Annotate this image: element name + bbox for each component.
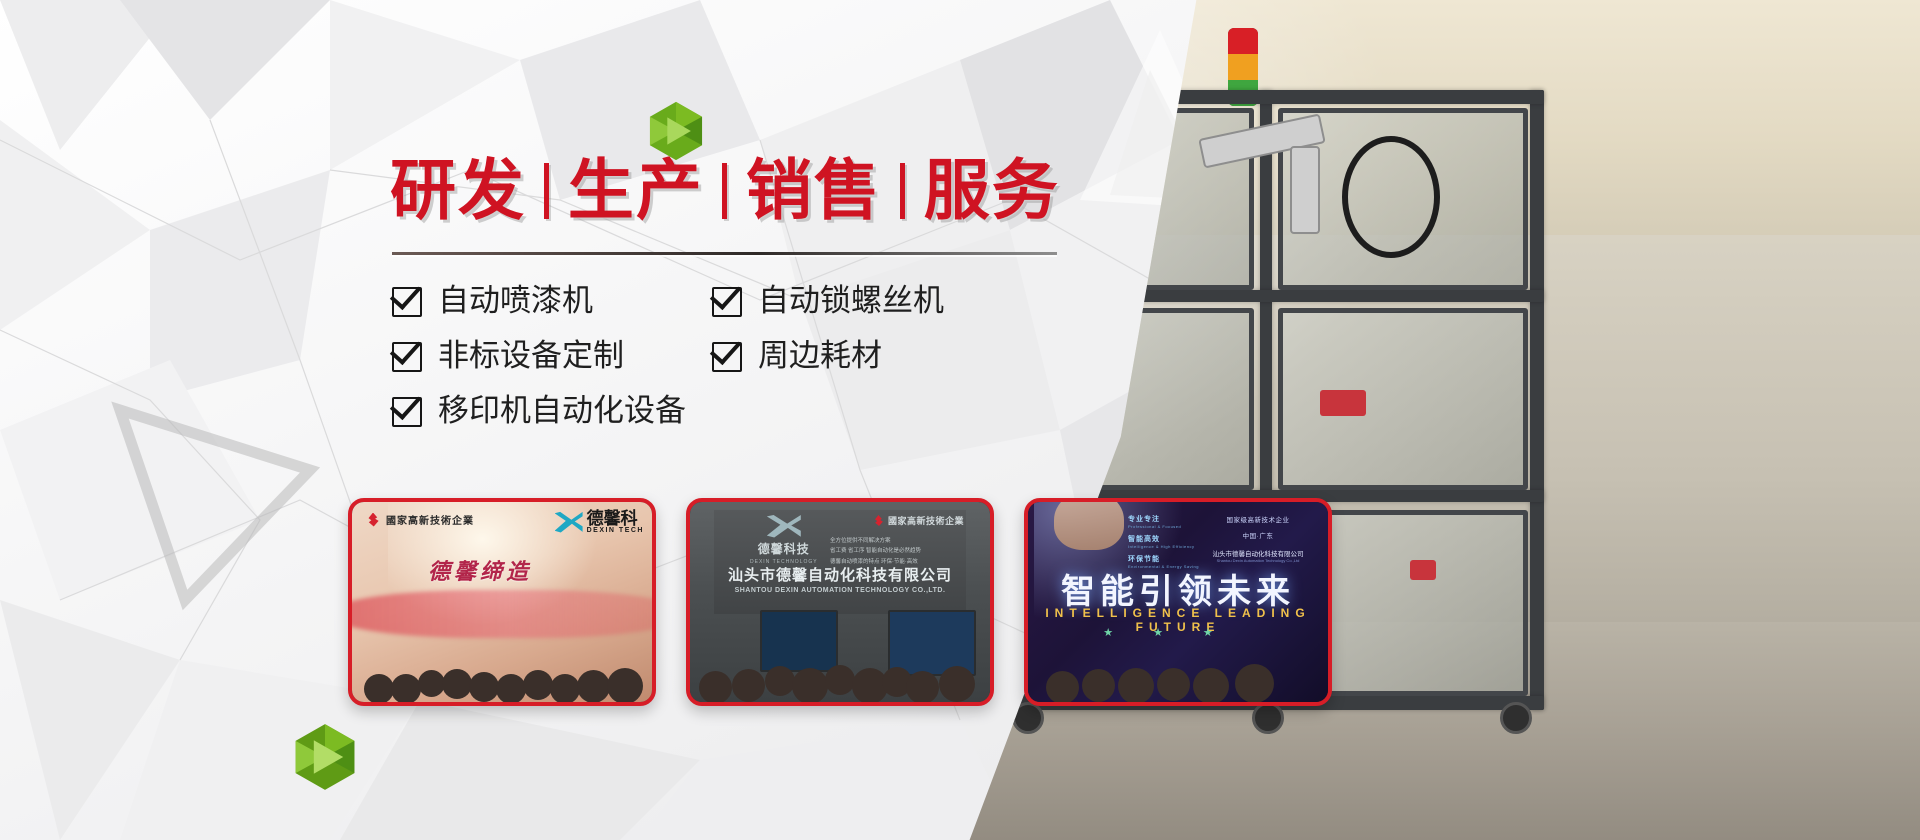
people-group [1028, 590, 1328, 702]
checkbox-checked-icon [712, 287, 742, 317]
feature-label: 周边耗材 [758, 341, 882, 372]
feature-item: 自动锁螺丝机 [712, 286, 1012, 317]
headline-word-4: 服务 [924, 158, 1060, 224]
thumbnail-team-photo-exhibition-booth[interactable]: 國家高新技術企業 德馨科 DEXIN TECH 德馨缔造 [348, 498, 656, 706]
dexin-logo-en: DEXIN TECH [587, 527, 644, 534]
checkbox-checked-icon [392, 397, 422, 427]
headline-word-3: 销售 [746, 158, 882, 224]
dexin-logo: 德馨科技 DEXIN TECHNOLOGY [750, 514, 818, 565]
hi-tech-badge-label: 國家高新技術企業 [888, 514, 964, 527]
wall-bullet: 全方位提供不同解决方案 [830, 536, 980, 546]
headline-separator [722, 163, 727, 219]
checkbox-checked-icon [392, 342, 422, 372]
feature-label: 非标设备定制 [438, 341, 624, 372]
banner-content: 研发 生产 销售 服务 自动喷漆机 自动锁螺丝机 非标设备定制 [0, 0, 1130, 840]
headline: 研发 生产 销售 服务 [390, 158, 1070, 224]
feature-label: 移印机自动化设备 [438, 396, 686, 427]
dexin-x-mark-icon [767, 514, 801, 538]
feature-label: 自动锁螺丝机 [758, 286, 944, 317]
flame-icon [873, 515, 884, 526]
headline-divider [392, 252, 1057, 255]
thumbnail-team-photo-company-wall[interactable]: 德馨科技 DEXIN TECHNOLOGY 國家高新技術企業 全方位提供不同解决… [686, 498, 994, 706]
feature-item: 自动喷漆机 [392, 286, 692, 317]
dexin-logo: 德馨科 DEXIN TECH [555, 510, 644, 534]
right-company-en: Shantou Dexin Automation Technology Co.,… [1198, 558, 1318, 563]
right-region-label: 中国·广东 [1198, 530, 1318, 540]
hi-tech-badge: 國家高新技術企業 [873, 514, 964, 527]
dexin-x-mark-icon [555, 511, 583, 533]
feature-list: 自动喷漆机 自动锁螺丝机 非标设备定制 周边耗材 移印机自动化设备 [392, 286, 1072, 427]
hi-tech-badge-label: 國家高新技術企業 [386, 512, 474, 527]
feature-item: 移印机自动化设备 [392, 396, 1012, 427]
checkbox-checked-icon [392, 287, 422, 317]
people-group [690, 590, 990, 702]
headline-separator [544, 163, 549, 219]
hero-banner: 研发 生产 销售 服务 自动喷漆机 自动锁螺丝机 非标设备定制 [0, 0, 1920, 840]
feature-item: 非标设备定制 [392, 341, 692, 372]
headline-word-2: 生产 [568, 158, 704, 224]
wall-bullet: 省工费 省工序 智能自动化是必然趋势 [830, 546, 980, 556]
dexin-logo-cn: 德馨科 [587, 510, 644, 527]
headline-word-1: 研发 [390, 158, 526, 224]
thumbnail-team-photo-intelligence-banner[interactable]: 专业专注 Professional & Focused 智能高效 Intelli… [1024, 498, 1332, 706]
right-company-cn: 汕头市德馨自动化科技有限公司 [1198, 548, 1318, 558]
banner-right-block: 国家级高新技术企业 中国·广东 汕头市德馨自动化科技有限公司 Shantou D… [1198, 514, 1318, 563]
flame-icon [366, 513, 380, 527]
company-name-cn: 汕头市德馨自动化科技有限公司 [690, 564, 990, 585]
people-group [352, 590, 652, 702]
feature-item: 周边耗材 [712, 341, 1012, 372]
right-badge-label: 国家级高新技术企业 [1198, 514, 1318, 524]
thumbnail-gallery: 國家高新技術企業 德馨科 DEXIN TECH 德馨缔造 [348, 498, 1332, 706]
thumbnail-slogan: 德馨缔造 [428, 554, 532, 586]
headline-separator [900, 163, 905, 219]
hi-tech-badge: 國家高新技術企業 [366, 512, 474, 527]
wall-bullet-list: 全方位提供不同解决方案 省工费 省工序 智能自动化是必然趋势 德馨自动喷漆的特点… [830, 536, 980, 567]
hand-silhouette [1054, 502, 1124, 550]
checkbox-checked-icon [712, 342, 742, 372]
dexin-logo-cn: 德馨科技 [758, 540, 810, 557]
feature-label: 自动喷漆机 [438, 286, 593, 317]
